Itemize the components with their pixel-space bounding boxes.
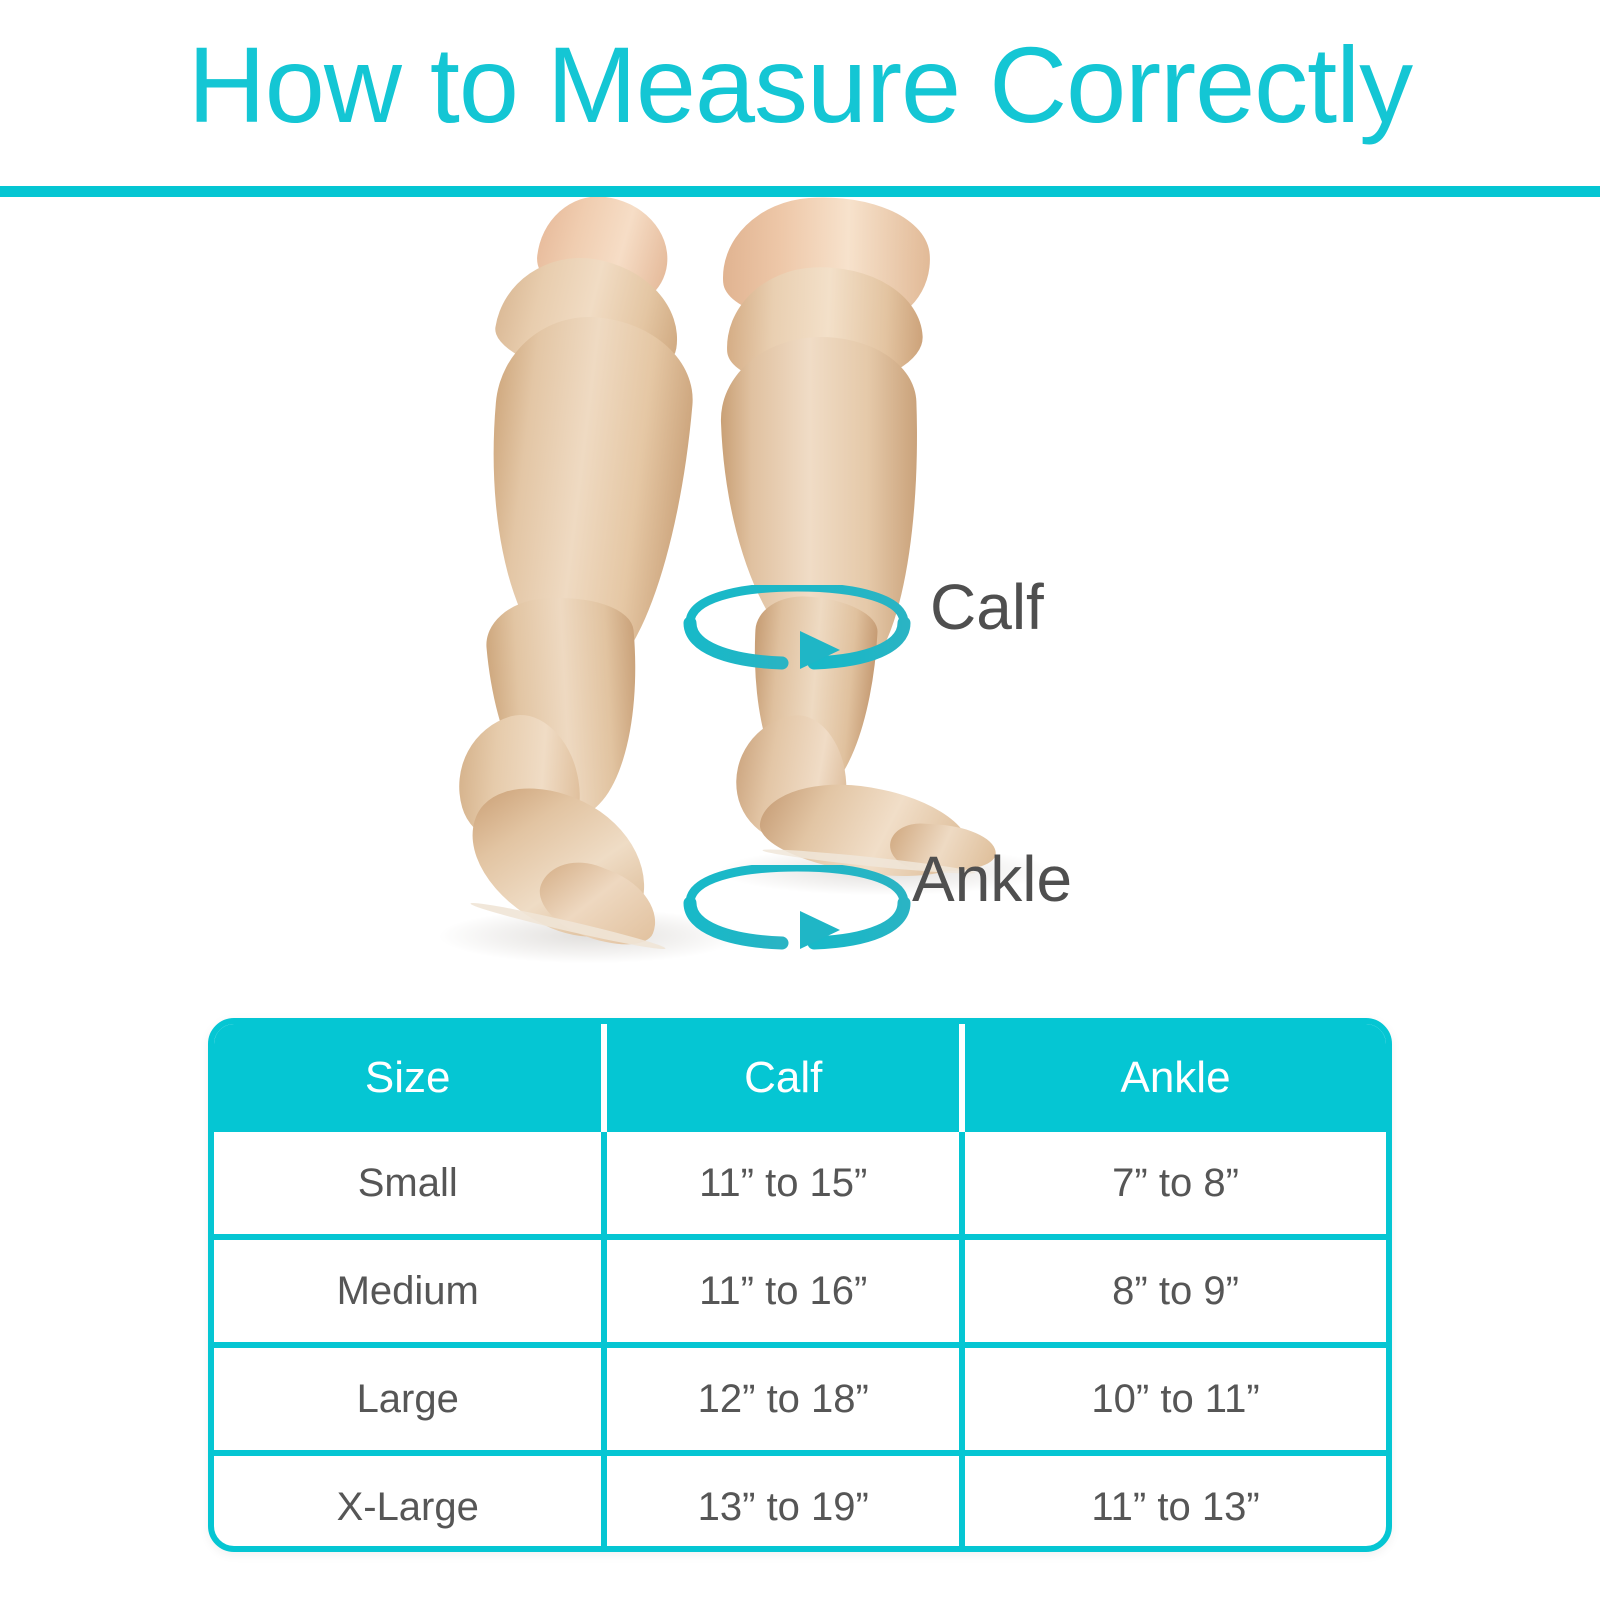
cell-ankle: 10” to 11” (962, 1345, 1386, 1453)
cell-size: X-Large (214, 1453, 604, 1552)
size-chart: Size Calf Ankle Small 11” to 15” 7” to 8… (214, 1024, 1386, 1552)
calf-label: Calf (930, 575, 1044, 639)
page-title: How to Measure Correctly (0, 20, 1600, 150)
header-divider-rule (0, 186, 1600, 197)
column-header-ankle: Ankle (962, 1024, 1386, 1132)
table-row: X-Large 13” to 19” 11” to 13” (214, 1453, 1386, 1552)
cell-calf: 13” to 19” (604, 1453, 962, 1552)
table-row: Medium 11” to 16” 8” to 9” (214, 1237, 1386, 1345)
cell-size: Small (214, 1132, 604, 1237)
table-row: Small 11” to 15” 7” to 8” (214, 1132, 1386, 1237)
calf-circular-measure-arrow-icon (682, 585, 912, 680)
cell-calf: 11” to 16” (604, 1237, 962, 1345)
cell-size: Medium (214, 1237, 604, 1345)
size-chart-head: Size Calf Ankle (214, 1024, 1386, 1132)
cell-calf: 12” to 18” (604, 1345, 962, 1453)
column-header-size: Size (214, 1024, 604, 1132)
header-banner: How to Measure Correctly (0, 0, 1600, 186)
cell-ankle: 8” to 9” (962, 1237, 1386, 1345)
cell-ankle: 7” to 8” (962, 1132, 1386, 1237)
ankle-label: Ankle (912, 847, 1072, 911)
column-header-calf: Calf (604, 1024, 962, 1132)
size-chart-table: Size Calf Ankle Small 11” to 15” 7” to 8… (208, 1018, 1392, 1552)
leg-back-with-stocking (430, 197, 720, 987)
ankle-circular-measure-arrow-icon (682, 865, 912, 960)
cell-ankle: 11” to 13” (962, 1453, 1386, 1552)
cell-size: Large (214, 1345, 604, 1453)
cell-calf: 11” to 15” (604, 1132, 962, 1237)
size-chart-body: Small 11” to 15” 7” to 8” Medium 11” to … (214, 1132, 1386, 1552)
table-row: Large 12” to 18” 10” to 11” (214, 1345, 1386, 1453)
table-header-row: Size Calf Ankle (214, 1024, 1386, 1132)
measurement-illustration: Calf Ankle (0, 197, 1600, 1007)
